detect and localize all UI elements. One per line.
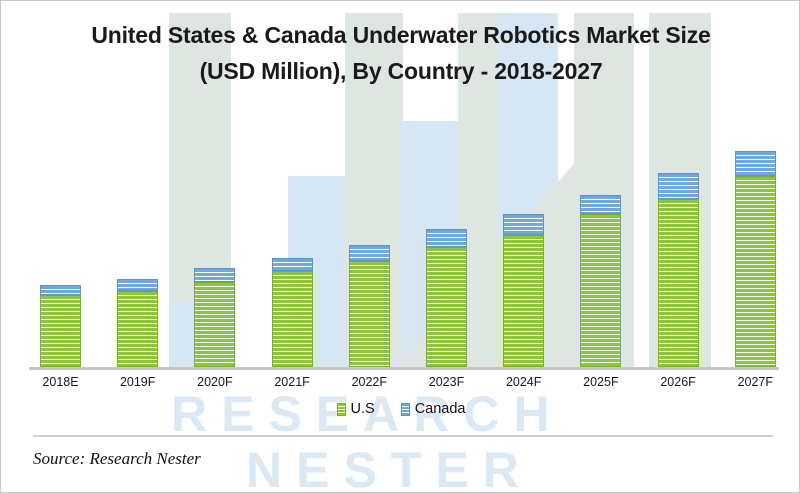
x-tick-2021F: 2021F [257, 375, 327, 389]
legend-swatch-icon [401, 403, 410, 416]
x-tick-2019F: 2019F [103, 375, 173, 389]
legend-label: U.S [351, 401, 375, 417]
source-label: Source: Research Nester [33, 449, 201, 469]
bar-segment-us-2023F [426, 247, 467, 367]
bar-2021F [272, 258, 313, 367]
bar-segment-canada-2019F [117, 279, 158, 291]
legend-label: Canada [415, 401, 466, 417]
bar-2018E [40, 285, 81, 367]
x-tick-2023F: 2023F [412, 375, 482, 389]
bar-segment-canada-2027F [735, 151, 776, 175]
footer-divider [33, 435, 773, 437]
bar-segment-us-2024F [503, 235, 544, 367]
x-tick-2020F: 2020F [180, 375, 250, 389]
bar-segment-canada-2023F [426, 229, 467, 247]
chart-legend: U.SCanada [1, 401, 800, 417]
bar-2025F [580, 195, 621, 367]
bar-2027F [735, 151, 776, 367]
bar-2024F [503, 214, 544, 367]
x-tick-2022F: 2022F [334, 375, 404, 389]
legend-item-us[interactable]: U.S [337, 401, 375, 417]
bar-segment-us-2022F [349, 261, 390, 367]
bar-2020F [194, 268, 235, 367]
bar-segment-canada-2026F [658, 173, 699, 199]
x-tick-2025F: 2025F [566, 375, 636, 389]
bar-2023F [426, 229, 467, 367]
x-axis-line [29, 367, 779, 370]
x-tick-2024F: 2024F [489, 375, 559, 389]
bar-segment-canada-2020F [194, 268, 235, 282]
bar-segment-canada-2022F [349, 245, 390, 260]
bar-2019F [117, 279, 158, 367]
plot-area [1, 1, 800, 493]
bar-segment-us-2025F [580, 214, 621, 367]
bar-segment-canada-2021F [272, 258, 313, 272]
legend-swatch-icon [337, 403, 346, 416]
bar-segment-canada-2025F [580, 195, 621, 214]
bar-segment-us-2020F [194, 282, 235, 367]
x-tick-2026F: 2026F [643, 375, 713, 389]
chart-canvas: RESEARCH NESTER United States & Canada U… [0, 0, 800, 493]
bar-segment-us-2018E [40, 295, 81, 367]
legend-item-canada[interactable]: Canada [401, 401, 466, 417]
bar-segment-us-2019F [117, 291, 158, 367]
bar-segment-us-2021F [272, 271, 313, 367]
bar-2022F [349, 245, 390, 367]
bar-segment-canada-2018E [40, 285, 81, 296]
bar-segment-us-2027F [735, 176, 776, 367]
bar-2026F [658, 173, 699, 367]
x-tick-2027F: 2027F [720, 375, 790, 389]
x-tick-2018E: 2018E [26, 375, 96, 389]
bar-segment-canada-2024F [503, 214, 544, 234]
bar-segment-us-2026F [658, 199, 699, 367]
